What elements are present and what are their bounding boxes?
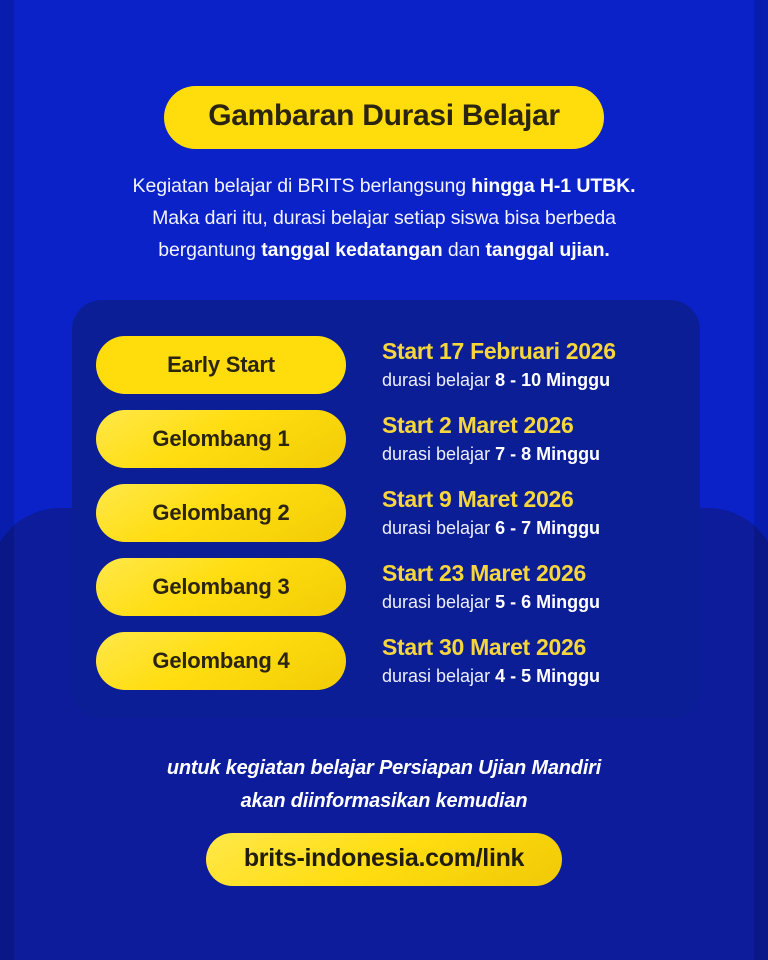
subtitle-line3-plain2: dan bbox=[443, 239, 486, 261]
duration-value: 4 - 5 Minggu bbox=[495, 666, 600, 686]
start-date: Start 17 Februari 2026 bbox=[382, 337, 616, 365]
duration-value: 7 - 8 Minggu bbox=[495, 444, 600, 464]
wave-label-badge: Gelombang 4 bbox=[96, 632, 346, 690]
wave-label-badge: Gelombang 2 bbox=[96, 484, 346, 542]
subtitle-line3-plain1: bergantung bbox=[158, 239, 261, 261]
row-info: Start 30 Maret 2026 durasi belajar 4 - 5… bbox=[382, 633, 600, 689]
duration-prefix: durasi belajar bbox=[382, 518, 495, 538]
row-info: Start 9 Maret 2026 durasi belajar 6 - 7 … bbox=[382, 485, 600, 541]
table-row: Gelombang 4 Start 30 Maret 2026 durasi b… bbox=[96, 624, 682, 698]
duration-prefix: durasi belajar bbox=[382, 592, 495, 612]
row-info: Start 17 Februari 2026 durasi belajar 8 … bbox=[382, 337, 616, 393]
wave-label-badge: Gelombang 3 bbox=[96, 558, 346, 616]
subtitle-line1-bold: hingga H-1 UTBK. bbox=[471, 175, 635, 197]
footer-note: untuk kegiatan belajar Persiapan Ujian M… bbox=[40, 752, 728, 818]
wave-label-badge: Early Start bbox=[96, 336, 346, 394]
subtitle-line3-bold2: tanggal ujian. bbox=[485, 239, 609, 261]
row-info: Start 23 Maret 2026 durasi belajar 5 - 6… bbox=[382, 559, 600, 615]
url-container: brits-indonesia.com/link bbox=[0, 833, 768, 886]
wave-label-badge: Gelombang 1 bbox=[96, 410, 346, 468]
table-row: Gelombang 3 Start 23 Maret 2026 durasi b… bbox=[96, 550, 682, 624]
duration-prefix: durasi belajar bbox=[382, 370, 495, 390]
subtitle-line2: Maka dari itu, durasi belajar setiap sis… bbox=[152, 207, 616, 229]
duration-text: durasi belajar 4 - 5 Minggu bbox=[382, 663, 600, 689]
start-date: Start 30 Maret 2026 bbox=[382, 633, 600, 661]
footer-note-line2: akan diinformasikan kemudian bbox=[241, 790, 528, 812]
subtitle-line3-bold1: tanggal kedatangan bbox=[261, 239, 442, 261]
page-title: Gambaran Durasi Belajar bbox=[164, 86, 604, 149]
poster-content: Gambaran Durasi Belajar Kegiatan belajar… bbox=[0, 0, 768, 960]
duration-prefix: durasi belajar bbox=[382, 444, 495, 464]
poster-canvas: Gambaran Durasi Belajar Kegiatan belajar… bbox=[0, 0, 768, 960]
footer-note-line1: untuk kegiatan belajar Persiapan Ujian M… bbox=[167, 757, 601, 779]
start-date: Start 2 Maret 2026 bbox=[382, 411, 600, 439]
duration-value: 6 - 7 Minggu bbox=[495, 518, 600, 538]
duration-value: 8 - 10 Minggu bbox=[495, 370, 610, 390]
website-url-button[interactable]: brits-indonesia.com/link bbox=[206, 833, 562, 886]
start-date: Start 23 Maret 2026 bbox=[382, 559, 600, 587]
duration-text: durasi belajar 8 - 10 Minggu bbox=[382, 367, 616, 393]
schedule-rows: Early Start Start 17 Februari 2026 duras… bbox=[96, 328, 682, 698]
duration-text: durasi belajar 6 - 7 Minggu bbox=[382, 515, 600, 541]
subtitle-line1-plain: Kegiatan belajar di BRITS berlangsung bbox=[133, 175, 472, 197]
table-row: Gelombang 2 Start 9 Maret 2026 durasi be… bbox=[96, 476, 682, 550]
subtitle-paragraph: Kegiatan belajar di BRITS berlangsung hi… bbox=[40, 170, 728, 266]
table-row: Gelombang 1 Start 2 Maret 2026 durasi be… bbox=[96, 402, 682, 476]
duration-text: durasi belajar 7 - 8 Minggu bbox=[382, 441, 600, 467]
title-container: Gambaran Durasi Belajar bbox=[0, 86, 768, 149]
row-info: Start 2 Maret 2026 durasi belajar 7 - 8 … bbox=[382, 411, 600, 467]
duration-prefix: durasi belajar bbox=[382, 666, 495, 686]
start-date: Start 9 Maret 2026 bbox=[382, 485, 600, 513]
table-row: Early Start Start 17 Februari 2026 duras… bbox=[96, 328, 682, 402]
duration-value: 5 - 6 Minggu bbox=[495, 592, 600, 612]
duration-text: durasi belajar 5 - 6 Minggu bbox=[382, 589, 600, 615]
